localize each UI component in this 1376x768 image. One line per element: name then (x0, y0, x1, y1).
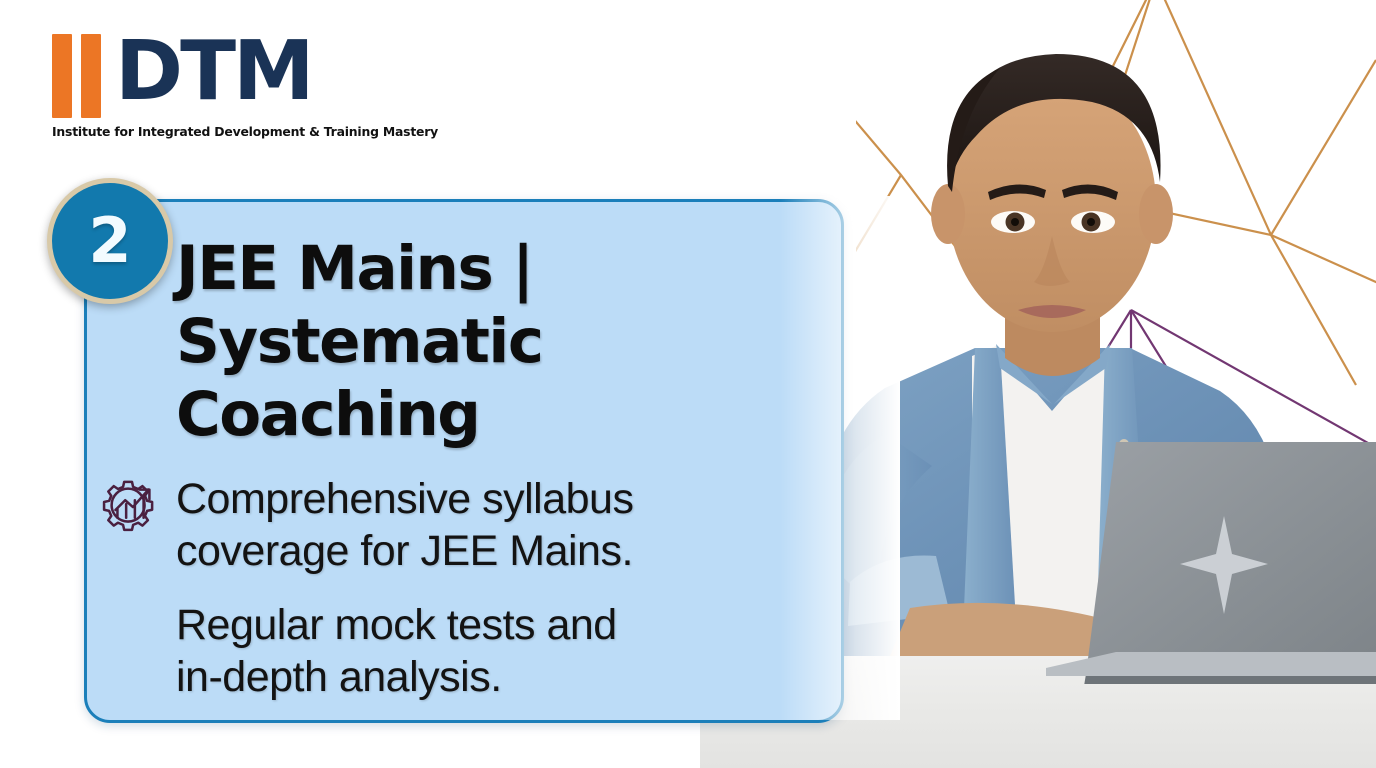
step-number: 2 (88, 210, 131, 272)
logo-tagline: Institute for Integrated Development & T… (52, 124, 382, 139)
logo-mark-row: DTM (52, 34, 382, 122)
card-bullet-2: Regular mock tests and in-depth analysis… (176, 599, 836, 703)
card-title-line-1: JEE Mains | (176, 232, 836, 305)
card-bullet-1: Comprehensive syllabus coverage for JEE … (176, 473, 836, 577)
bullet-2-line-2: in-depth analysis. (176, 651, 836, 703)
laptop-device (1046, 424, 1376, 684)
poster-canvas: DTM Institute for Integrated Development… (0, 0, 1376, 768)
bullet-1-line-1: Comprehensive syllabus (176, 473, 836, 525)
card-title-line-2: Systematic Coaching (176, 305, 836, 451)
bullet-1-line-2: coverage for JEE Mains. (176, 525, 836, 577)
logo-bar-1-icon (52, 34, 72, 118)
step-number-badge: 2 (47, 178, 173, 304)
card-content: JEE Mains | Systematic Coaching Comprehe… (176, 232, 836, 703)
logo-bar-2-icon (81, 34, 101, 118)
brand-logo: DTM Institute for Integrated Development… (52, 34, 382, 139)
gear-growth-chart-icon (100, 477, 162, 539)
logo-wordmark: DTM (115, 30, 312, 114)
bullet-2-line-1: Regular mock tests and (176, 599, 836, 651)
